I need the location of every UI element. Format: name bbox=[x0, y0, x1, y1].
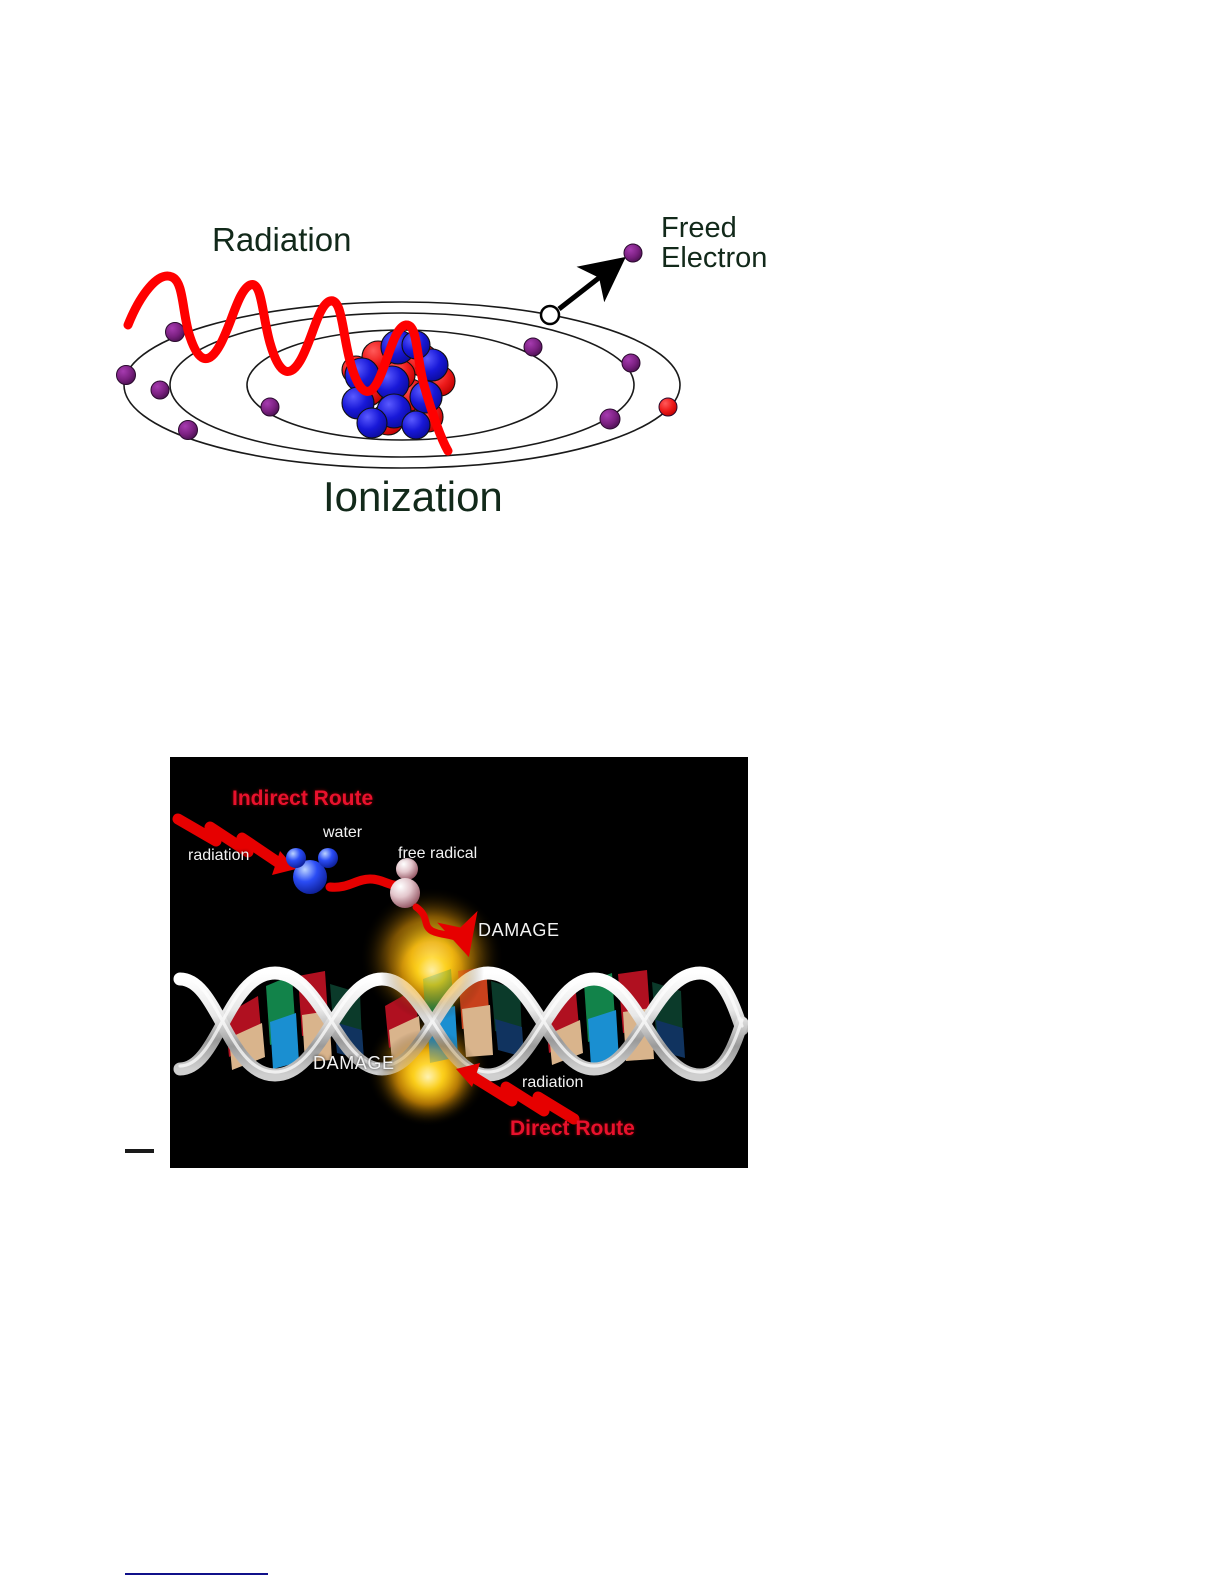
electron-inner-left bbox=[261, 398, 279, 416]
electron-middle-right bbox=[622, 354, 640, 372]
water-to-radical-arrow bbox=[330, 879, 402, 887]
electron-outer-far-left bbox=[117, 366, 136, 385]
indirect-radiation-bolt-icon bbox=[178, 819, 282, 865]
electron-inner-right bbox=[524, 338, 542, 356]
radiation-label: Radiation bbox=[212, 223, 351, 258]
footnote-separator bbox=[125, 1573, 268, 1575]
free-radical-sphere bbox=[396, 858, 418, 880]
water-hydrogen-sphere bbox=[286, 848, 306, 868]
ionization-title: Ionization bbox=[323, 475, 503, 519]
dna-damage-figure: Indirect Route radiation water free radi… bbox=[170, 757, 748, 1168]
free-radical-sphere bbox=[390, 878, 420, 908]
dna-damage-illustration bbox=[170, 757, 748, 1168]
electron-middle-upper-left bbox=[166, 323, 185, 342]
electron-middle-left bbox=[151, 381, 169, 399]
nucleon-neutron bbox=[357, 408, 387, 438]
ionization-figure: Radiation FreedElectron Ionization bbox=[110, 185, 810, 540]
free-radical-icon bbox=[390, 858, 420, 908]
water-hydrogen-sphere bbox=[318, 848, 338, 868]
ionization-site-icon bbox=[541, 306, 559, 324]
electron-outer-lower-right bbox=[600, 409, 620, 429]
damage-glow-upper-front bbox=[380, 921, 484, 1021]
nucleon-neutron bbox=[402, 411, 430, 439]
freed-electron-arrow bbox=[559, 263, 618, 309]
freed-electron-label-line2: Electron bbox=[661, 242, 767, 274]
electron-middle-lower-left bbox=[179, 421, 198, 440]
base-pair-block bbox=[270, 1013, 299, 1069]
freed-electron-label-line1: Freed bbox=[661, 212, 737, 244]
direct-radiation-bolt-icon bbox=[470, 1075, 574, 1119]
freed-electron-particle bbox=[624, 244, 642, 262]
caption-dash bbox=[125, 1149, 154, 1153]
electron-outer-right-red bbox=[659, 398, 677, 416]
freed-electron-label: FreedElectron bbox=[661, 213, 767, 274]
